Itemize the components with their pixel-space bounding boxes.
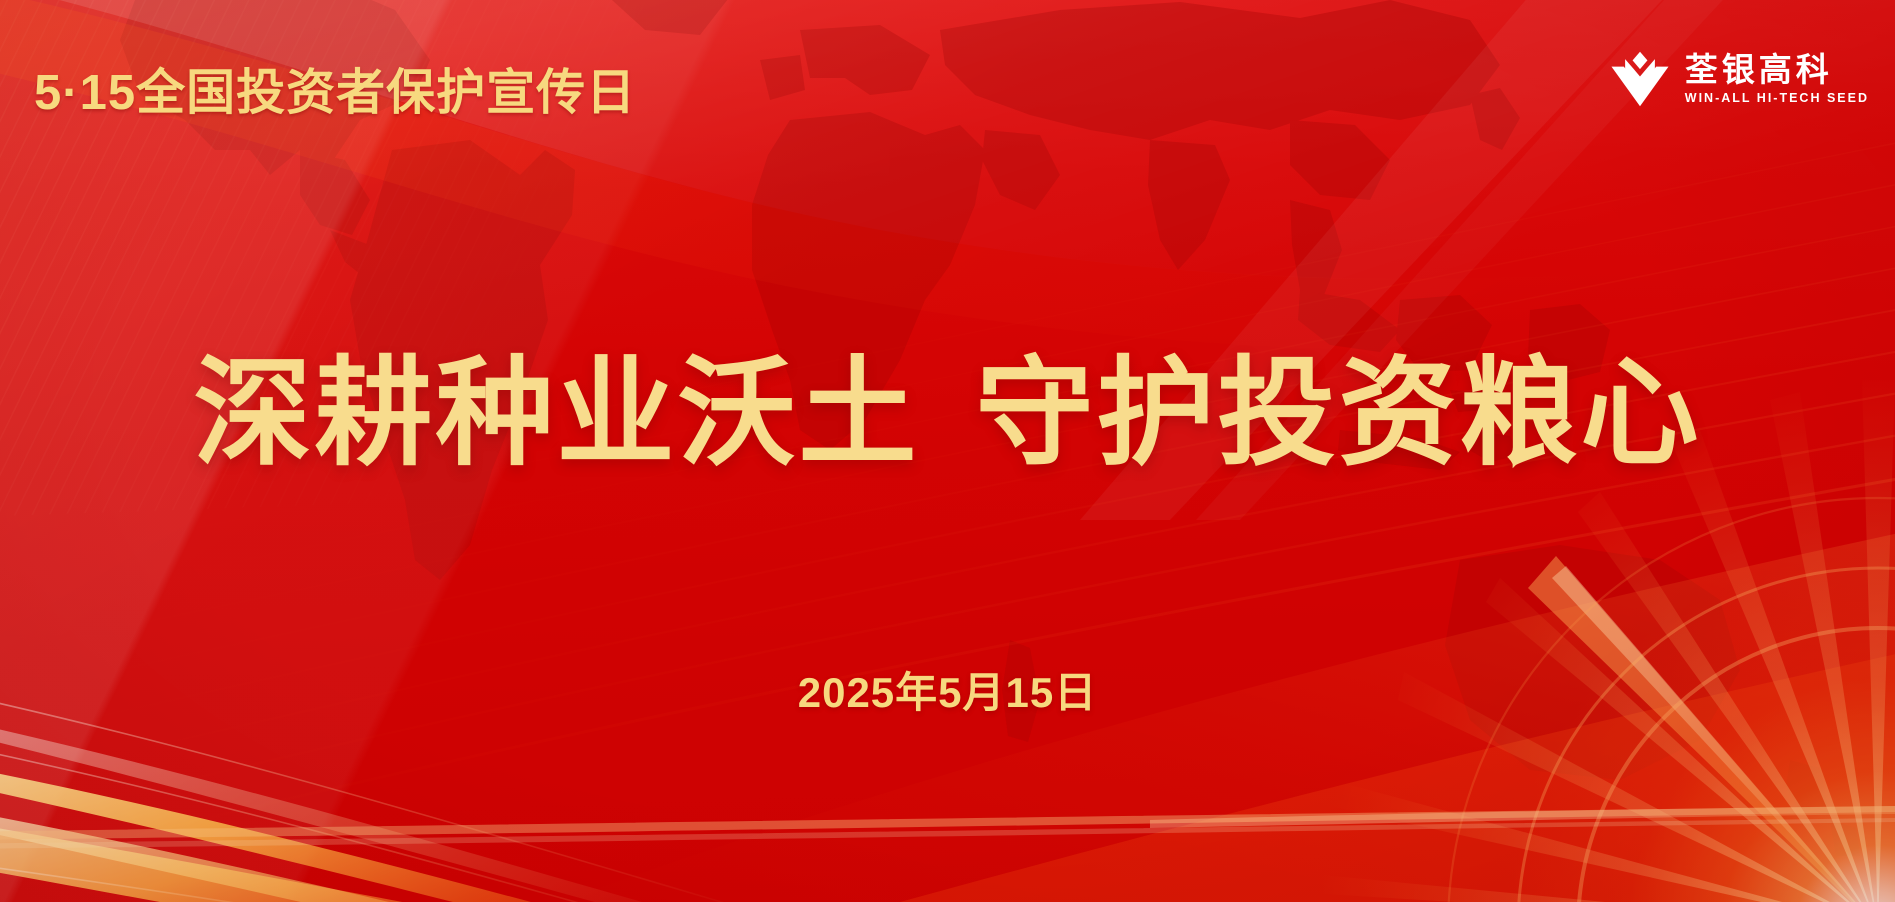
- campaign-kicker-text: 5·15全国投资者保护宣传日: [34, 53, 636, 124]
- chevron-diamond-logo-icon: [1609, 48, 1671, 110]
- brand-name-cn: 荃银高科: [1685, 53, 1869, 88]
- brand-logo: 荃银高科 WIN-ALL HI-TECH SEED: [1609, 48, 1869, 110]
- brand-logo-text: 荃银高科 WIN-ALL HI-TECH SEED: [1685, 53, 1869, 104]
- main-headline: 深耕种业沃土守护投资粮心: [0, 348, 1895, 480]
- investor-protection-banner: 5·15全国投资者保护宣传日 荃银高科 WIN-ALL HI-TECH SEED…: [0, 0, 1895, 902]
- headline-part-1: 深耕种业沃土: [193, 348, 919, 480]
- brand-name-en: WIN-ALL HI-TECH SEED: [1685, 92, 1869, 105]
- event-date: 2025年5月15日: [0, 659, 1895, 720]
- banner-content: 5·15全国投资者保护宣传日 荃银高科 WIN-ALL HI-TECH SEED…: [0, 0, 1895, 902]
- headline-part-2: 守护投资粮心: [976, 348, 1702, 480]
